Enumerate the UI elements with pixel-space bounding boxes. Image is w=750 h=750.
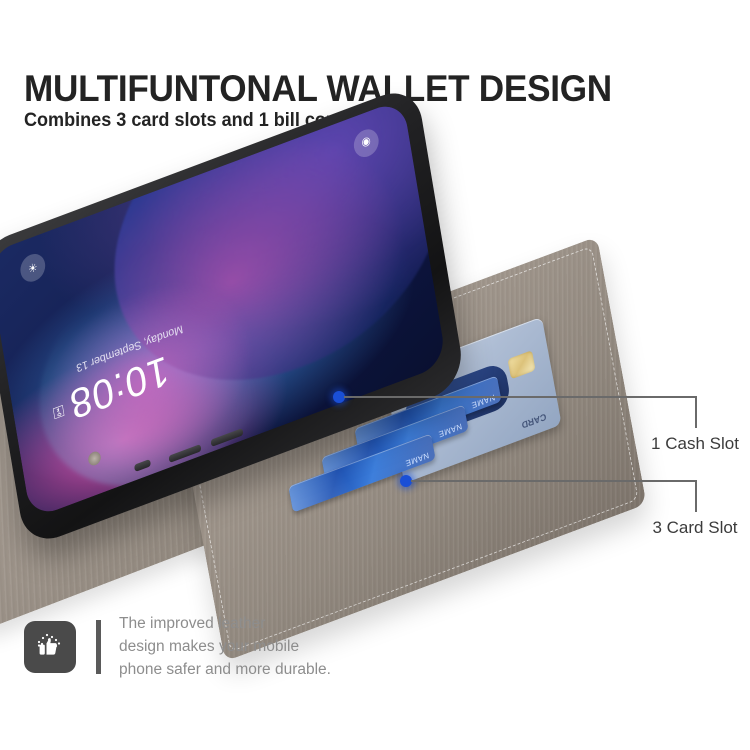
callout-line-cash-slot bbox=[344, 396, 696, 398]
callout-label-cash-slot: 1 Cash Slot bbox=[651, 434, 739, 454]
callout-tick-cash-slot bbox=[695, 396, 697, 428]
callout-line-card-slot bbox=[411, 480, 696, 482]
card-brand: CARD bbox=[521, 411, 547, 430]
feature-line: design makes your mobile bbox=[119, 635, 331, 658]
thumbs-up-sparkle-icon bbox=[24, 621, 76, 673]
feature-line: phone safer and more durable. bbox=[119, 658, 331, 681]
callout-tick-card-slot bbox=[695, 480, 697, 512]
page-title: MULTIFUNTONAL WALLET DESIGN bbox=[24, 68, 612, 110]
callout-label-card-slot: 3 Card Slot bbox=[652, 518, 737, 538]
product-infographic: MULTIFUNTONAL WALLET DESIGN Combines 3 c… bbox=[0, 0, 750, 750]
feature-block: The improved leather design makes your m… bbox=[24, 612, 331, 681]
card-chip-icon bbox=[508, 350, 536, 379]
flashlight-icon: ☀ bbox=[18, 250, 47, 285]
feature-divider bbox=[96, 620, 101, 674]
product-photo: 1234 5678 00/00 CARD NAME NAME NAME Mond… bbox=[0, 150, 750, 580]
feature-description: The improved leather design makes your m… bbox=[119, 612, 331, 681]
feature-line: The improved leather bbox=[119, 612, 331, 635]
